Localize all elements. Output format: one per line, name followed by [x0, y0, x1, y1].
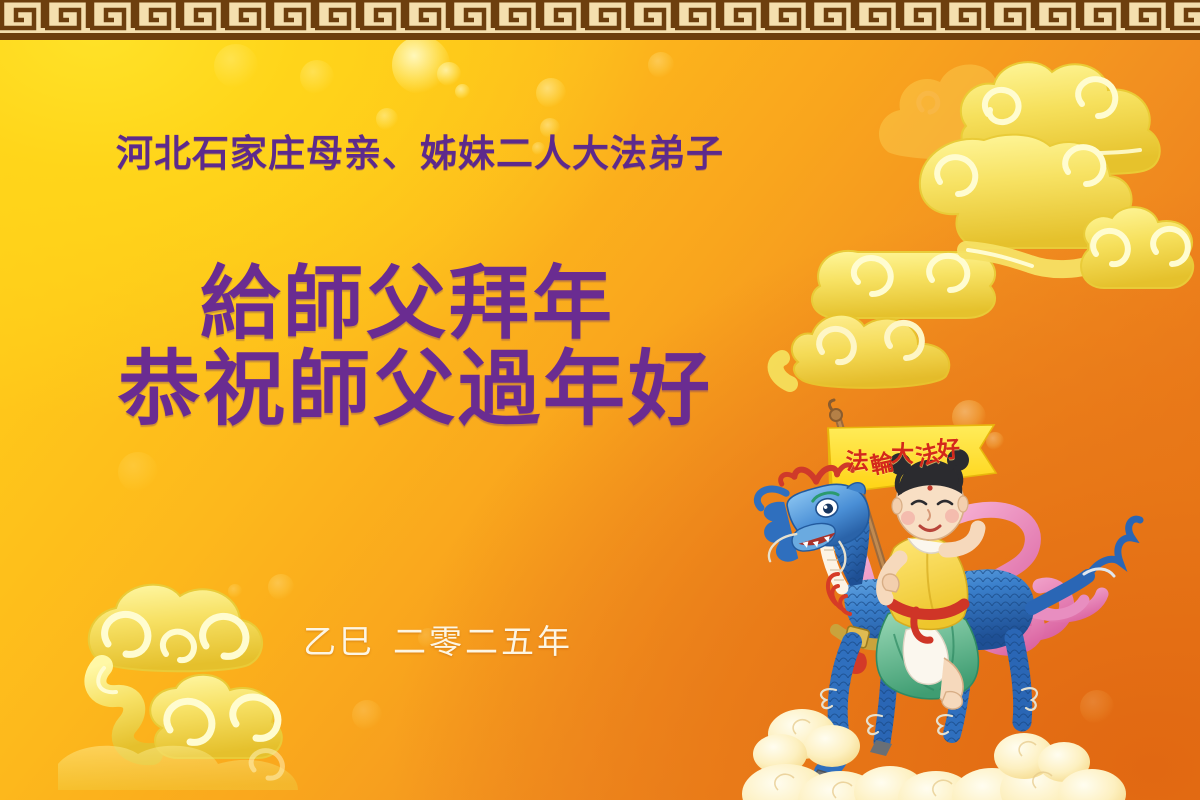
bokeh-light: [1026, 188, 1074, 236]
chinese-meander-border: [0, 0, 1200, 40]
bokeh-light: [536, 78, 566, 108]
bokeh-light: [648, 52, 674, 78]
cloud-puffs: [742, 709, 1126, 800]
bokeh-light: [437, 62, 461, 86]
bokeh-light: [455, 84, 470, 99]
banner-char: 法: [845, 442, 869, 477]
wish-line-1: 給師父拜年: [118, 262, 713, 346]
banner-char: 好: [936, 430, 961, 465]
cloud-decoration-top-right: [960, 60, 1200, 250]
greeting-sender-line: 河北石家庄母亲、姊妹二人大法弟子: [116, 134, 724, 174]
cloud-decoration-bottom-left: [58, 578, 388, 800]
bokeh-light: [376, 108, 398, 130]
cloud-decoration-right-band: [806, 128, 1136, 338]
wish-line-2: 恭祝師父過年好: [118, 346, 713, 434]
date-gregorian-year: 二零二五年: [393, 622, 573, 661]
bokeh-light: [392, 36, 450, 94]
cloud-decoration-right-small: [1074, 206, 1200, 311]
bokeh-light: [300, 60, 334, 94]
bokeh-light: [118, 452, 158, 492]
new-year-greeting-card: 法輪大法好 河北石家庄母亲、姊妹二人大法弟子 給師父拜年 恭祝師父過年好 乙巳二…: [0, 0, 1200, 800]
main-wish-block: 給師父拜年 恭祝師父過年好: [118, 262, 713, 434]
cloud-decoration-top-right-faint: [870, 44, 1100, 184]
bokeh-light: [352, 700, 382, 730]
bokeh-light: [268, 574, 294, 600]
bokeh-light: [214, 44, 258, 88]
date-line: 乙巳二零二五年: [303, 615, 573, 663]
date-cyclical-year: 乙巳: [303, 622, 375, 661]
cloud-decoration-right-trail: [790, 290, 1030, 410]
bokeh-light: [228, 584, 242, 598]
